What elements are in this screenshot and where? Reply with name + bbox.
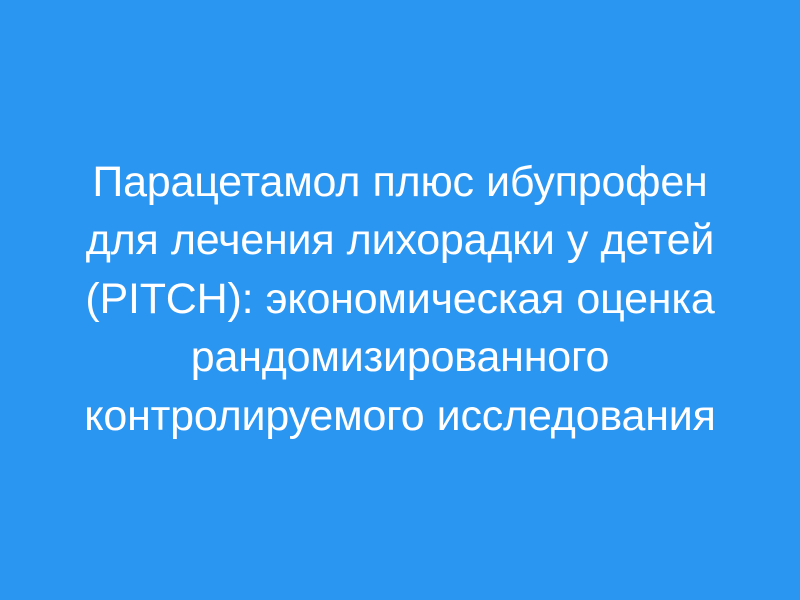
title-card: Парацетамол плюс ибупрофен для лечения л… (0, 0, 800, 600)
title-block: Парацетамол плюс ибупрофен для лечения л… (50, 153, 750, 446)
page-title: Парацетамол плюс ибупрофен для лечения л… (60, 153, 740, 446)
